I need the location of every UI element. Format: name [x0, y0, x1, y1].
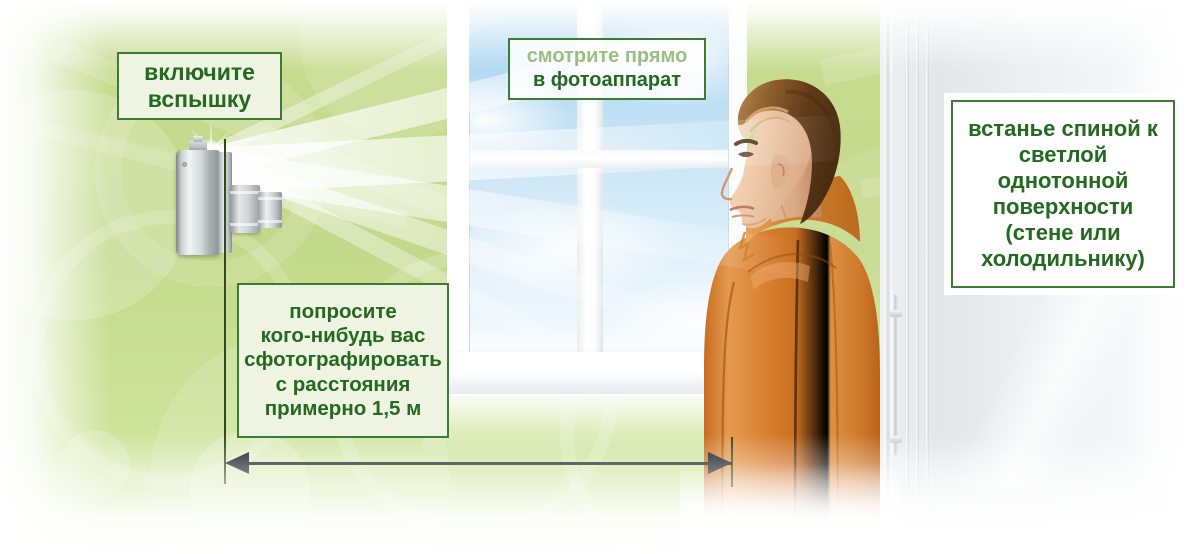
fridge-handle-mount — [890, 310, 902, 317]
camera-dot — [182, 162, 187, 167]
callout-surface-line-1: встанье спиной к — [968, 116, 1158, 142]
camera-lens-barrel-2 — [258, 192, 282, 228]
callout-surface-line-5: (стене или — [968, 220, 1158, 246]
callout-distance-line-3: сфотографировать — [244, 348, 442, 372]
callout-surface-line-4: поверхности — [968, 194, 1158, 220]
callout-distance: попросите кого-нибудь вас сфотографирова… — [237, 283, 449, 438]
fridge-handle — [892, 295, 899, 455]
callout-turn-on-flash: включите вспышку — [117, 52, 282, 120]
callout-flash-line-1: включите — [144, 59, 255, 86]
camera-lens-barrel-1 — [230, 185, 260, 233]
eyebrow — [736, 141, 756, 144]
callout-look-line-2: в фотоаппарат — [527, 69, 688, 93]
callout-look-line-1: смотрите прямо — [527, 45, 688, 69]
callout-surface-line-6: холодильнику) — [968, 246, 1158, 272]
callout-surface-line-3: однотонной — [968, 168, 1158, 194]
callout-surface-line-2: светлой — [968, 142, 1158, 168]
nose — [722, 168, 732, 199]
callout-distance-line-4: с расстояния — [244, 373, 442, 397]
callout-distance-line-2: кого-нибудь вас — [244, 324, 442, 348]
callout-flash-line-2: вспышку — [144, 86, 255, 113]
distance-tick-left — [224, 139, 226, 484]
callout-distance-line-5: примерно 1,5 м — [244, 397, 442, 421]
camera-shutter-button — [193, 136, 203, 142]
infographic-poster: включите вспышку смотрите прямо в фотоап… — [0, 0, 1200, 554]
bottom-edge-fade — [0, 434, 1200, 554]
callout-background-surface: встанье спиной к светлой однотонной пове… — [951, 100, 1175, 288]
callout-look-at-camera: смотрите прямо в фотоаппарат — [508, 38, 706, 100]
left-edge-fade — [0, 0, 110, 554]
callout-distance-line-1: попросите — [244, 300, 442, 324]
camera-icon — [176, 140, 286, 255]
